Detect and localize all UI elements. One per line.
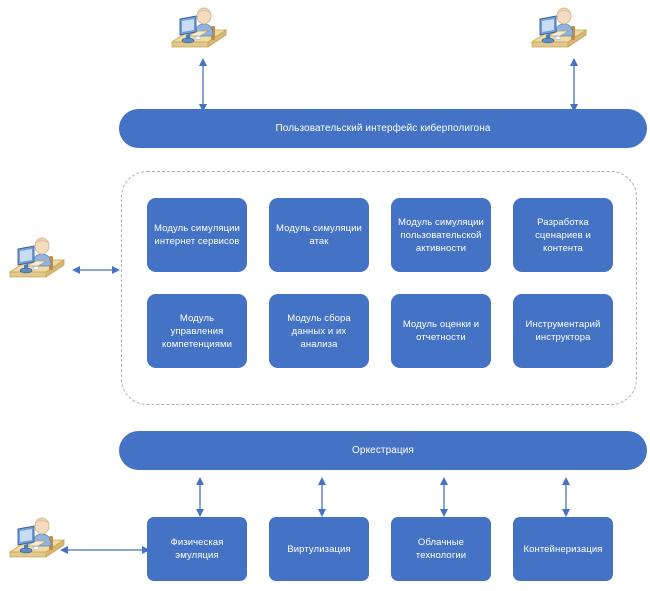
infra-containerization[interactable]: Контейнеризация [513,517,613,581]
diagram-canvas: Пользовательский интерфейс киберполигона… [0,0,650,591]
orchestration-bar[interactable]: Оркестрация [119,431,647,470]
workstation-icon [6,232,68,290]
module-attack-simulation[interactable]: Модуль симуляции атак [269,198,369,272]
module-assessment-reporting[interactable]: Модуль оценки и отчетности [391,294,491,368]
arrow-orchestration-to-virtualization [317,477,327,517]
infra-virtualization[interactable]: Виртулизация [269,517,369,581]
workstation-icon [168,2,230,60]
module-data-collection-analysis[interactable]: Модуль сбора данных и их анализа [269,294,369,368]
module-scenario-content-development[interactable]: Разработка сценариев и контента [513,198,613,272]
arrow-orchestration-to-physical [195,477,205,517]
user-interface-bar[interactable]: Пользовательский интерфейс киберполигона [119,109,647,148]
arrow-top-left-to-ui [198,58,208,112]
module-internet-services-simulation[interactable]: Модуль симуляции интернет сервисов [147,198,247,272]
infra-physical-emulation[interactable]: Физическая эмуляция [147,517,247,581]
module-competency-management[interactable]: Модуль управления компетенциями [147,294,247,368]
arrow-bottom-left-to-infrastructure [60,545,150,555]
module-instructor-toolkit[interactable]: Инструментарий инструктора [513,294,613,368]
workstation-bottom-left [6,512,68,570]
arrow-middle-left-to-modules [72,265,120,275]
infra-cloud-technologies[interactable]: Облачные технологии [391,517,491,581]
module-user-activity-simulation[interactable]: Модуль симуляции пользовательской активн… [391,198,491,272]
arrow-orchestration-to-cloud [439,477,449,517]
arrow-orchestration-to-containerization [561,477,571,517]
workstation-middle-left [6,232,68,290]
workstation-icon [6,512,68,570]
workstation-top-left [168,2,230,60]
workstation-top-right [528,2,590,60]
workstation-icon [528,2,590,60]
arrow-top-right-to-ui [569,58,579,112]
